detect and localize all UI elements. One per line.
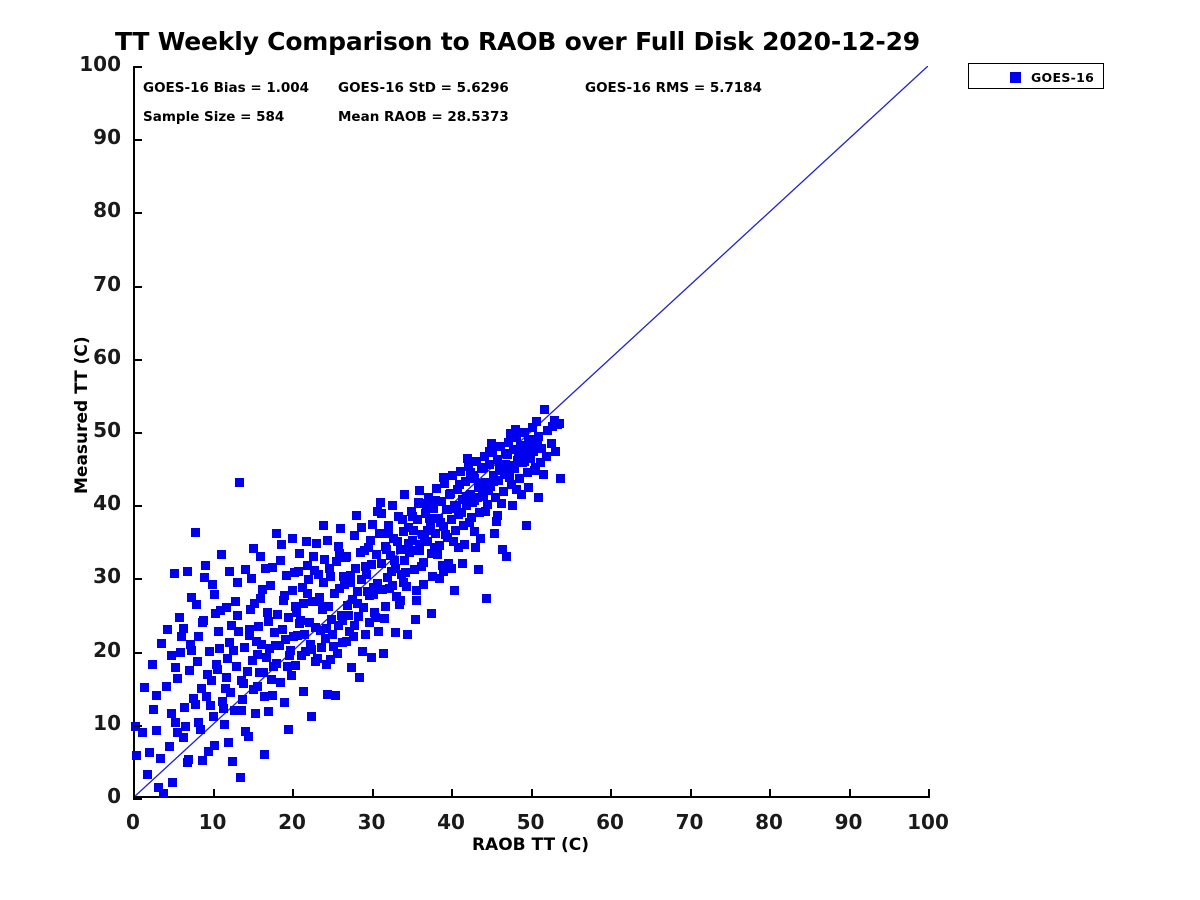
y-tick-label: 40: [51, 491, 121, 515]
scatter-point: [238, 695, 247, 704]
scatter-point: [148, 660, 157, 669]
scatter-point: [393, 537, 402, 546]
scatter-point: [214, 627, 223, 636]
scatter-point: [268, 691, 277, 700]
scatter-point: [250, 599, 259, 608]
scatter-point: [201, 561, 210, 570]
stat-text: Mean RAOB = 28.5373: [338, 109, 509, 125]
x-tick-label: 10: [173, 810, 253, 834]
scatter-point: [439, 473, 448, 482]
scatter-point: [208, 580, 217, 589]
scatter-point: [333, 649, 342, 658]
y-tick-label: 80: [51, 198, 121, 222]
y-axis-label: Measured TT (C): [72, 336, 92, 494]
x-tick-mark: [690, 789, 692, 798]
scatter-point: [194, 632, 203, 641]
scatter-point: [298, 583, 307, 592]
scatter-point: [452, 504, 461, 513]
scatter-point: [479, 492, 488, 501]
scatter-point: [492, 517, 501, 526]
x-tick-mark: [928, 789, 930, 798]
scatter-point: [396, 596, 405, 605]
scatter-point: [524, 483, 533, 492]
scatter-point: [276, 556, 285, 565]
scatter-point: [284, 725, 293, 734]
scatter-point: [408, 512, 417, 521]
scatter-point: [358, 647, 367, 656]
scatter-point: [361, 630, 370, 639]
scatter-point: [400, 490, 409, 499]
scatter-point: [261, 564, 270, 573]
scatter-point: [179, 624, 188, 633]
y-tick-mark: [133, 652, 142, 654]
scatter-point: [384, 529, 393, 538]
scatter-point: [468, 498, 477, 507]
scatter-point: [377, 559, 386, 568]
scatter-point: [430, 543, 439, 552]
x-tick-label: 60: [570, 810, 650, 834]
x-tick-mark: [769, 789, 771, 798]
y-tick-mark: [133, 725, 142, 727]
scatter-point: [251, 709, 260, 718]
scatter-point: [198, 756, 207, 765]
scatter-point: [381, 602, 390, 611]
scatter-point: [460, 540, 469, 549]
scatter-point: [420, 531, 429, 540]
x-tick-label: 50: [491, 810, 571, 834]
scatter-point: [317, 643, 326, 652]
scatter-point: [171, 663, 180, 672]
y-tick-label: 100: [51, 52, 121, 76]
scatter-point: [217, 550, 226, 559]
scatter-point: [224, 738, 233, 747]
scatter-point: [320, 555, 329, 564]
scatter-point: [375, 529, 384, 538]
scatter-point: [463, 454, 472, 463]
scatter-point: [232, 662, 241, 671]
legend-box[interactable]: GOES-16: [968, 63, 1104, 89]
scatter-point: [157, 639, 166, 648]
x-tick-mark: [292, 789, 294, 798]
scatter-point: [223, 654, 232, 663]
scatter-point: [312, 539, 321, 548]
scatter-point: [231, 597, 240, 606]
scatter-point: [145, 748, 154, 757]
scatter-point: [225, 567, 234, 576]
scatter-point: [322, 624, 331, 633]
scatter-point: [277, 540, 286, 549]
scatter-point: [196, 725, 205, 734]
scatter-point: [260, 750, 269, 759]
scatter-point: [183, 567, 192, 576]
scatter-point: [382, 545, 391, 554]
scatter-point: [272, 529, 281, 538]
scatter-point: [252, 637, 261, 646]
scatter-point: [167, 651, 176, 660]
scatter-point: [376, 498, 385, 507]
scatter-point: [398, 515, 407, 524]
scatter-point: [171, 718, 180, 727]
scatter-point: [476, 534, 485, 543]
scatter-point: [220, 720, 229, 729]
scatter-point: [506, 429, 515, 438]
scatter-point: [380, 614, 389, 623]
scatter-point: [264, 617, 273, 626]
scatter-point: [222, 603, 231, 612]
scatter-point: [354, 612, 363, 621]
scatter-point: [414, 498, 423, 507]
scatter-point: [497, 499, 506, 508]
scatter-point: [330, 589, 339, 598]
scatter-point: [180, 703, 189, 712]
scatter-point: [244, 732, 253, 741]
scatter-point: [291, 661, 300, 670]
scatter-point: [465, 518, 474, 527]
scatter-point: [446, 489, 455, 498]
y-tick-mark: [133, 578, 142, 580]
scatter-point: [512, 485, 521, 494]
y-tick-mark: [133, 798, 142, 800]
scatter-point: [352, 511, 361, 520]
scatter-point: [390, 556, 399, 565]
scatter-point: [412, 596, 421, 605]
scatter-point: [366, 536, 375, 545]
scatter-point: [269, 662, 278, 671]
scatter-point: [409, 526, 418, 535]
x-tick-mark: [610, 789, 612, 798]
scatter-point: [360, 546, 369, 555]
scatter-point: [187, 593, 196, 602]
scatter-point: [202, 692, 211, 701]
scatter-point: [347, 663, 356, 672]
y-tick-label: 0: [51, 784, 121, 808]
scatter-point: [443, 505, 452, 514]
scatter-point: [280, 698, 289, 707]
scatter-point: [176, 648, 185, 657]
scatter-point: [540, 405, 549, 414]
scatter-point: [204, 747, 213, 756]
scatter-point: [498, 545, 507, 554]
scatter-point: [536, 458, 545, 467]
scatter-point: [173, 674, 182, 683]
x-tick-mark: [133, 789, 135, 798]
scatter-point: [236, 773, 245, 782]
scatter-point: [193, 657, 202, 666]
scatter-point: [471, 543, 480, 552]
scatter-point: [205, 647, 214, 656]
scatter-point: [481, 507, 490, 516]
stat-text: Sample Size = 584: [143, 109, 284, 125]
scatter-point: [415, 486, 424, 495]
scatter-point: [353, 599, 362, 608]
scatter-point: [346, 578, 355, 587]
scatter-point: [355, 673, 364, 682]
scatter-point: [264, 707, 273, 716]
scatter-point: [243, 667, 252, 676]
scatter-point: [335, 549, 344, 558]
scatter-point: [209, 712, 218, 721]
scatter-point: [241, 565, 250, 574]
scatter-point: [303, 561, 312, 570]
x-tick-label: 0: [93, 810, 173, 834]
scatter-point: [427, 609, 436, 618]
scatter-point: [254, 622, 263, 631]
stat-text: GOES-16 StD = 5.6296: [338, 80, 509, 96]
scatter-point: [428, 572, 437, 581]
scatter-point: [228, 757, 237, 766]
chart-canvas: TT Weekly Comparison to RAOB over Full D…: [0, 0, 1200, 900]
scatter-point: [222, 673, 231, 682]
scatter-point: [143, 770, 152, 779]
scatter-point: [177, 632, 186, 641]
scatter-point: [411, 615, 420, 624]
scatter-point: [455, 480, 464, 489]
y-tick-mark: [133, 505, 142, 507]
scatter-point: [514, 454, 523, 463]
scatter-point: [162, 682, 171, 691]
scatter-point: [374, 627, 383, 636]
scatter-point: [388, 501, 397, 510]
scatter-point: [279, 596, 288, 605]
scatter-point: [198, 618, 207, 627]
plot-area: GOES-16 Bias = 1.004GOES-16 StD = 5.6296…: [133, 66, 928, 798]
scatter-point: [403, 630, 412, 639]
scatter-point: [191, 528, 200, 537]
scatter-point: [296, 616, 305, 625]
scatter-point: [211, 609, 220, 618]
y-tick-mark: [133, 139, 142, 141]
scatter-point: [240, 643, 249, 652]
scatter-point: [314, 570, 323, 579]
scatter-point: [479, 463, 488, 472]
scatter-point: [391, 628, 400, 637]
scatter-point: [221, 684, 230, 693]
x-tick-label: 90: [809, 810, 889, 834]
scatter-point: [365, 618, 374, 627]
scatter-point: [288, 586, 297, 595]
scatter-point: [556, 474, 565, 483]
stat-text: GOES-16 Bias = 1.004: [143, 80, 309, 96]
scatter-point: [213, 665, 222, 674]
scatter-point: [372, 550, 381, 559]
scatter-point: [533, 438, 542, 447]
scatter-point: [179, 733, 188, 742]
scatter-point: [315, 597, 324, 606]
scatter-point: [271, 641, 280, 650]
scatter-point: [165, 742, 174, 751]
x-tick-mark: [849, 789, 851, 798]
scatter-point: [184, 755, 193, 764]
y-tick-label: 90: [51, 125, 121, 149]
scatter-point: [154, 783, 163, 792]
scatter-point: [149, 705, 158, 714]
scatter-point: [307, 712, 316, 721]
scatter-point: [338, 616, 347, 625]
scatter-point: [534, 493, 543, 502]
x-tick-mark: [213, 789, 215, 798]
scatter-point: [417, 562, 426, 571]
scatter-point: [255, 668, 264, 677]
scatter-point: [369, 590, 378, 599]
scatter-point: [522, 521, 531, 530]
scatter-point: [233, 578, 242, 587]
scatter-point: [253, 650, 262, 659]
scatter-point: [156, 754, 165, 763]
scatter-point: [532, 417, 541, 426]
scatter-point: [470, 474, 479, 483]
scatter-point: [349, 632, 358, 641]
scatter-point: [508, 501, 517, 510]
scatter-point: [235, 478, 244, 487]
scatter-point: [299, 687, 308, 696]
scatter-point: [293, 631, 302, 640]
scatter-point: [350, 531, 359, 540]
scatter-point: [301, 647, 310, 656]
scatter-point: [191, 700, 200, 709]
scatter-point: [336, 524, 345, 533]
y-tick-mark: [133, 212, 142, 214]
scatter-point: [474, 565, 483, 574]
scatter-point: [291, 602, 300, 611]
y-tick-label: 20: [51, 638, 121, 662]
scatter-point: [200, 573, 209, 582]
scatter-point: [132, 751, 141, 760]
scatter-point: [237, 706, 246, 715]
scatter-point: [367, 653, 376, 662]
scatter-point: [210, 590, 219, 599]
scatter-point: [273, 610, 282, 619]
scatter-point: [163, 625, 172, 634]
y-tick-mark: [133, 359, 142, 361]
scatter-point: [404, 539, 413, 548]
scatter-point: [170, 569, 179, 578]
scatter-point: [539, 470, 548, 479]
scatter-point: [326, 572, 335, 581]
scatter-point: [490, 529, 499, 538]
x-tick-label: 80: [729, 810, 809, 834]
scatter-point: [551, 447, 560, 456]
scatter-point: [319, 521, 328, 530]
scatter-point: [175, 613, 184, 622]
scatter-point: [401, 568, 410, 577]
scatter-point: [351, 564, 360, 573]
scatter-point: [276, 678, 285, 687]
scatter-point: [324, 602, 333, 611]
scatter-point: [186, 640, 195, 649]
y-tick-label: 30: [51, 564, 121, 588]
scatter-point: [482, 594, 491, 603]
x-tick-mark: [372, 789, 374, 798]
scatter-point: [485, 447, 494, 456]
chart-title: TT Weekly Comparison to RAOB over Full D…: [0, 27, 1035, 56]
scatter-point: [353, 587, 362, 596]
scatter-point: [399, 578, 408, 587]
x-tick-label: 70: [650, 810, 730, 834]
scatter-point: [385, 584, 394, 593]
legend-swatch-goes16: [1010, 72, 1021, 83]
x-axis-label: RAOB TT (C): [133, 835, 928, 855]
legend-label-goes16: GOES-16: [1031, 70, 1094, 85]
scatter-point: [287, 671, 296, 680]
scatter-point: [431, 496, 440, 505]
y-tick-label: 70: [51, 272, 121, 296]
scatter-point: [138, 728, 147, 737]
scatter-point: [263, 608, 272, 617]
scatter-point: [185, 666, 194, 675]
scatter-point: [266, 581, 275, 590]
scatter-point: [323, 536, 332, 545]
scatter-point: [278, 625, 287, 634]
scatter-point: [439, 567, 448, 576]
scatter-point: [309, 552, 318, 561]
scatter-point: [447, 564, 456, 573]
scatter-point: [361, 562, 370, 571]
scatter-point: [239, 679, 248, 688]
x-tick-label: 100: [888, 810, 968, 834]
scatter-point: [152, 726, 161, 735]
y-tick-mark: [133, 432, 142, 434]
scatter-point: [373, 507, 382, 516]
scatter-point: [207, 676, 216, 685]
scatter-point: [152, 691, 161, 700]
scatter-point: [331, 691, 340, 700]
scatter-point: [229, 646, 238, 655]
x-tick-label: 30: [332, 810, 412, 834]
stat-text: GOES-16 RMS = 5.7184: [585, 80, 762, 96]
scatter-point: [206, 701, 215, 710]
scatter-point: [415, 546, 424, 555]
x-tick-label: 20: [252, 810, 332, 834]
scatter-point: [247, 574, 256, 583]
scatter-point: [167, 709, 176, 718]
scatter-point: [436, 518, 445, 527]
y-tick-mark: [133, 66, 142, 68]
y-tick-mark: [133, 286, 142, 288]
scatter-point: [253, 682, 262, 691]
scatter-point: [285, 651, 294, 660]
scatter-point: [495, 463, 504, 472]
y-tick-label: 10: [51, 711, 121, 735]
scatter-point: [350, 621, 359, 630]
scatter-point: [197, 684, 206, 693]
scatter-point: [387, 567, 396, 576]
scatter-point: [450, 586, 459, 595]
scatter-point: [357, 523, 366, 532]
x-tick-mark: [531, 789, 533, 798]
scatter-point: [503, 450, 512, 459]
x-tick-label: 40: [411, 810, 491, 834]
scatter-point: [302, 537, 311, 546]
scatter-point: [181, 722, 190, 731]
scatter-point: [368, 520, 377, 529]
scatter-point: [267, 675, 276, 684]
scatter-point: [262, 653, 271, 662]
scatter-point: [422, 502, 431, 511]
scatter-point: [449, 537, 458, 546]
scatter-point: [215, 644, 224, 653]
scatter-point: [412, 586, 421, 595]
scatter-point: [233, 611, 242, 620]
scatter-point: [288, 534, 297, 543]
scatter-point: [219, 704, 228, 713]
scatter-point: [379, 649, 388, 658]
scatter-point: [458, 559, 467, 568]
scatter-point: [245, 625, 254, 634]
scatter-point: [325, 564, 334, 573]
scatter-point: [290, 568, 299, 577]
x-tick-mark: [451, 789, 453, 798]
scatter-point: [140, 683, 149, 692]
